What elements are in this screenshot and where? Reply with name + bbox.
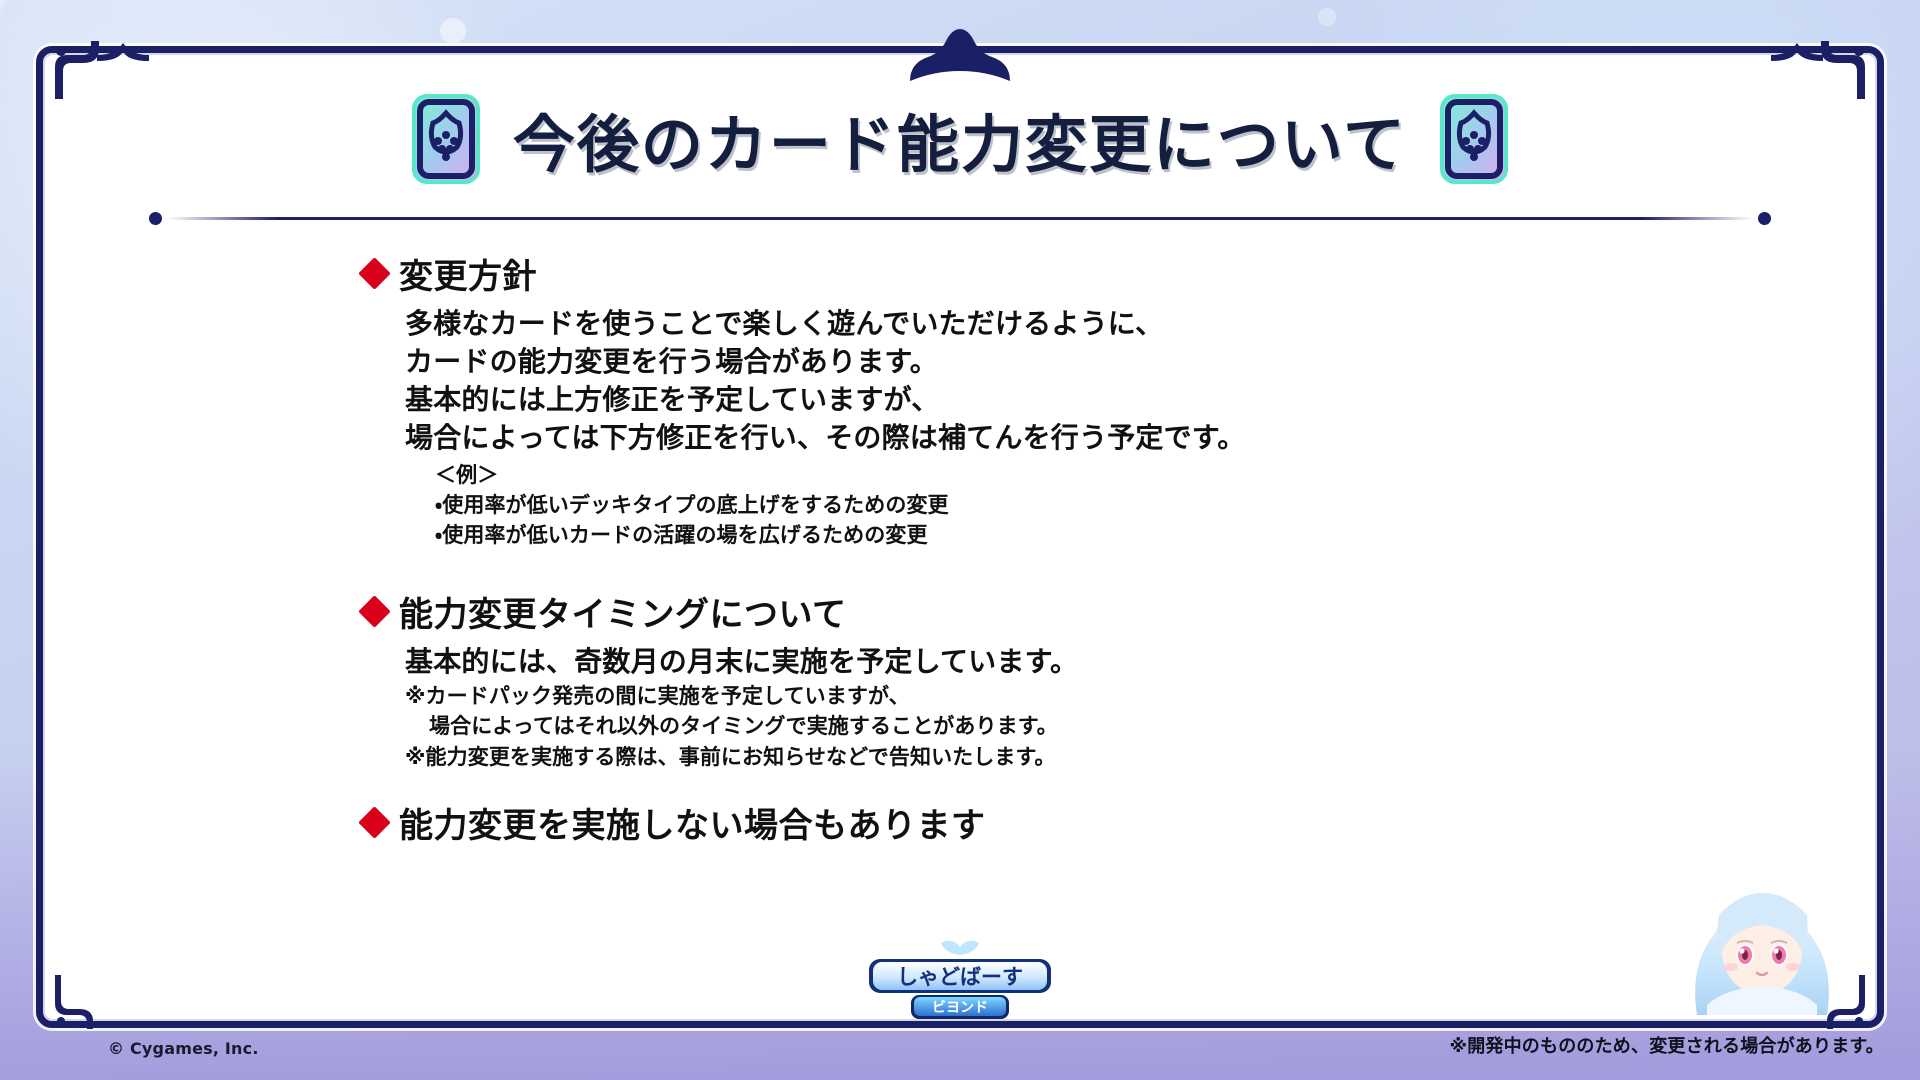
section-body: 多様なカードを使うことで楽しく遊んでいただけるように、 カードの能力変更を行う場… [405,305,1877,551]
note-line: ※カードパック発売の間に実施を予定していますが、 [405,681,1877,711]
body-line: 基本的には、奇数月の月末に実施を予定しています。 [405,643,1877,681]
body-line: 場合によっては下方修正を行い、その際は補てんを行う予定です。 [405,419,1877,457]
example-block: ＜例＞ ・使用率が低いデッキタイプの底上げをするための変更 ・使用率が低いカード… [435,461,1877,550]
slide-panel: 今後のカード能力変更について 変更方針 [36,46,1884,1028]
grape-card-icon-right [1437,91,1511,187]
section-heading-label: 能力変更を実施しない場合もあります [399,798,986,847]
background-bubble [440,18,466,44]
divider-dot-right [1758,212,1771,225]
section-spacer [363,782,1877,798]
slide-content: 変更方針 多様なカードを使うことで楽しく遊んでいただけるように、 カードの能力変… [43,249,1877,857]
red-diamond-icon [358,257,391,290]
svg-text:ビヨンド: ビヨンド [932,1000,988,1016]
section-heading: 変更方針 [363,249,1877,298]
example-label: ＜例＞ [435,461,1877,491]
example-item: ・使用率が低いデッキタイプの底上げをするための変更 [435,491,1877,521]
body-line: カードの能力変更を行う場合があります。 [405,343,1877,381]
section-spacer [363,561,1877,587]
section-change-policy: 変更方針 多様なカードを使うことで楽しく遊んでいただけるように、 カードの能力変… [363,249,1877,551]
section-body: 基本的には、奇数月の月末に実施を予定しています。 ※カードパック発売の間に実施を… [405,643,1877,772]
section-heading: 能力変更を実施しない場合もあります [363,798,1877,847]
note-line: 場合によってはそれ以外のタイミングで実施することがあります。 [405,711,1877,741]
red-diamond-icon [358,806,391,839]
section-heading: 能力変更タイミングについて [363,587,1877,636]
body-line: 多様なカードを使うことで楽しく遊んでいただけるように、 [405,305,1877,343]
title-divider [149,211,1771,225]
divider-line [167,217,1753,220]
section-heading-label: 能力変更タイミングについて [399,587,846,636]
disclaimer-text: ※開発中のもののため、変更される場合があります。 [1450,1032,1885,1058]
body-line: 基本的には上方修正を予定していますが、 [405,381,1877,419]
page-title: 今後のカード能力変更について [513,94,1407,184]
section-heading-label: 変更方針 [399,249,537,298]
corner-ornament-bottom-left-icon [53,973,193,1033]
shadowverse-beyond-logo: しゃどばーす ビヨンド [855,939,1065,1025]
background-bubble [1318,8,1336,26]
section-no-change-possible: 能力変更を実施しない場合もあります [363,798,1877,847]
grape-card-icon-left [409,91,483,187]
note-line: ※能力変更を実施する際は、事前にお知らせなどで告知いたします。 [405,742,1877,772]
example-item: ・使用率が低いカードの活躍の場を広げるための変更 [435,521,1877,551]
red-diamond-icon [358,595,391,628]
section-change-timing: 能力変更タイミングについて 基本的には、奇数月の月末に実施を予定しています。 ※… [363,587,1877,772]
svg-text:しゃどばーす: しゃどばーす [897,965,1023,989]
title-row: 今後のカード能力変更について [43,79,1877,199]
divider-dot-left [149,212,162,225]
character-portrait [1667,855,1857,1015]
copyright-text: © Cygames, Inc. [108,1039,259,1058]
